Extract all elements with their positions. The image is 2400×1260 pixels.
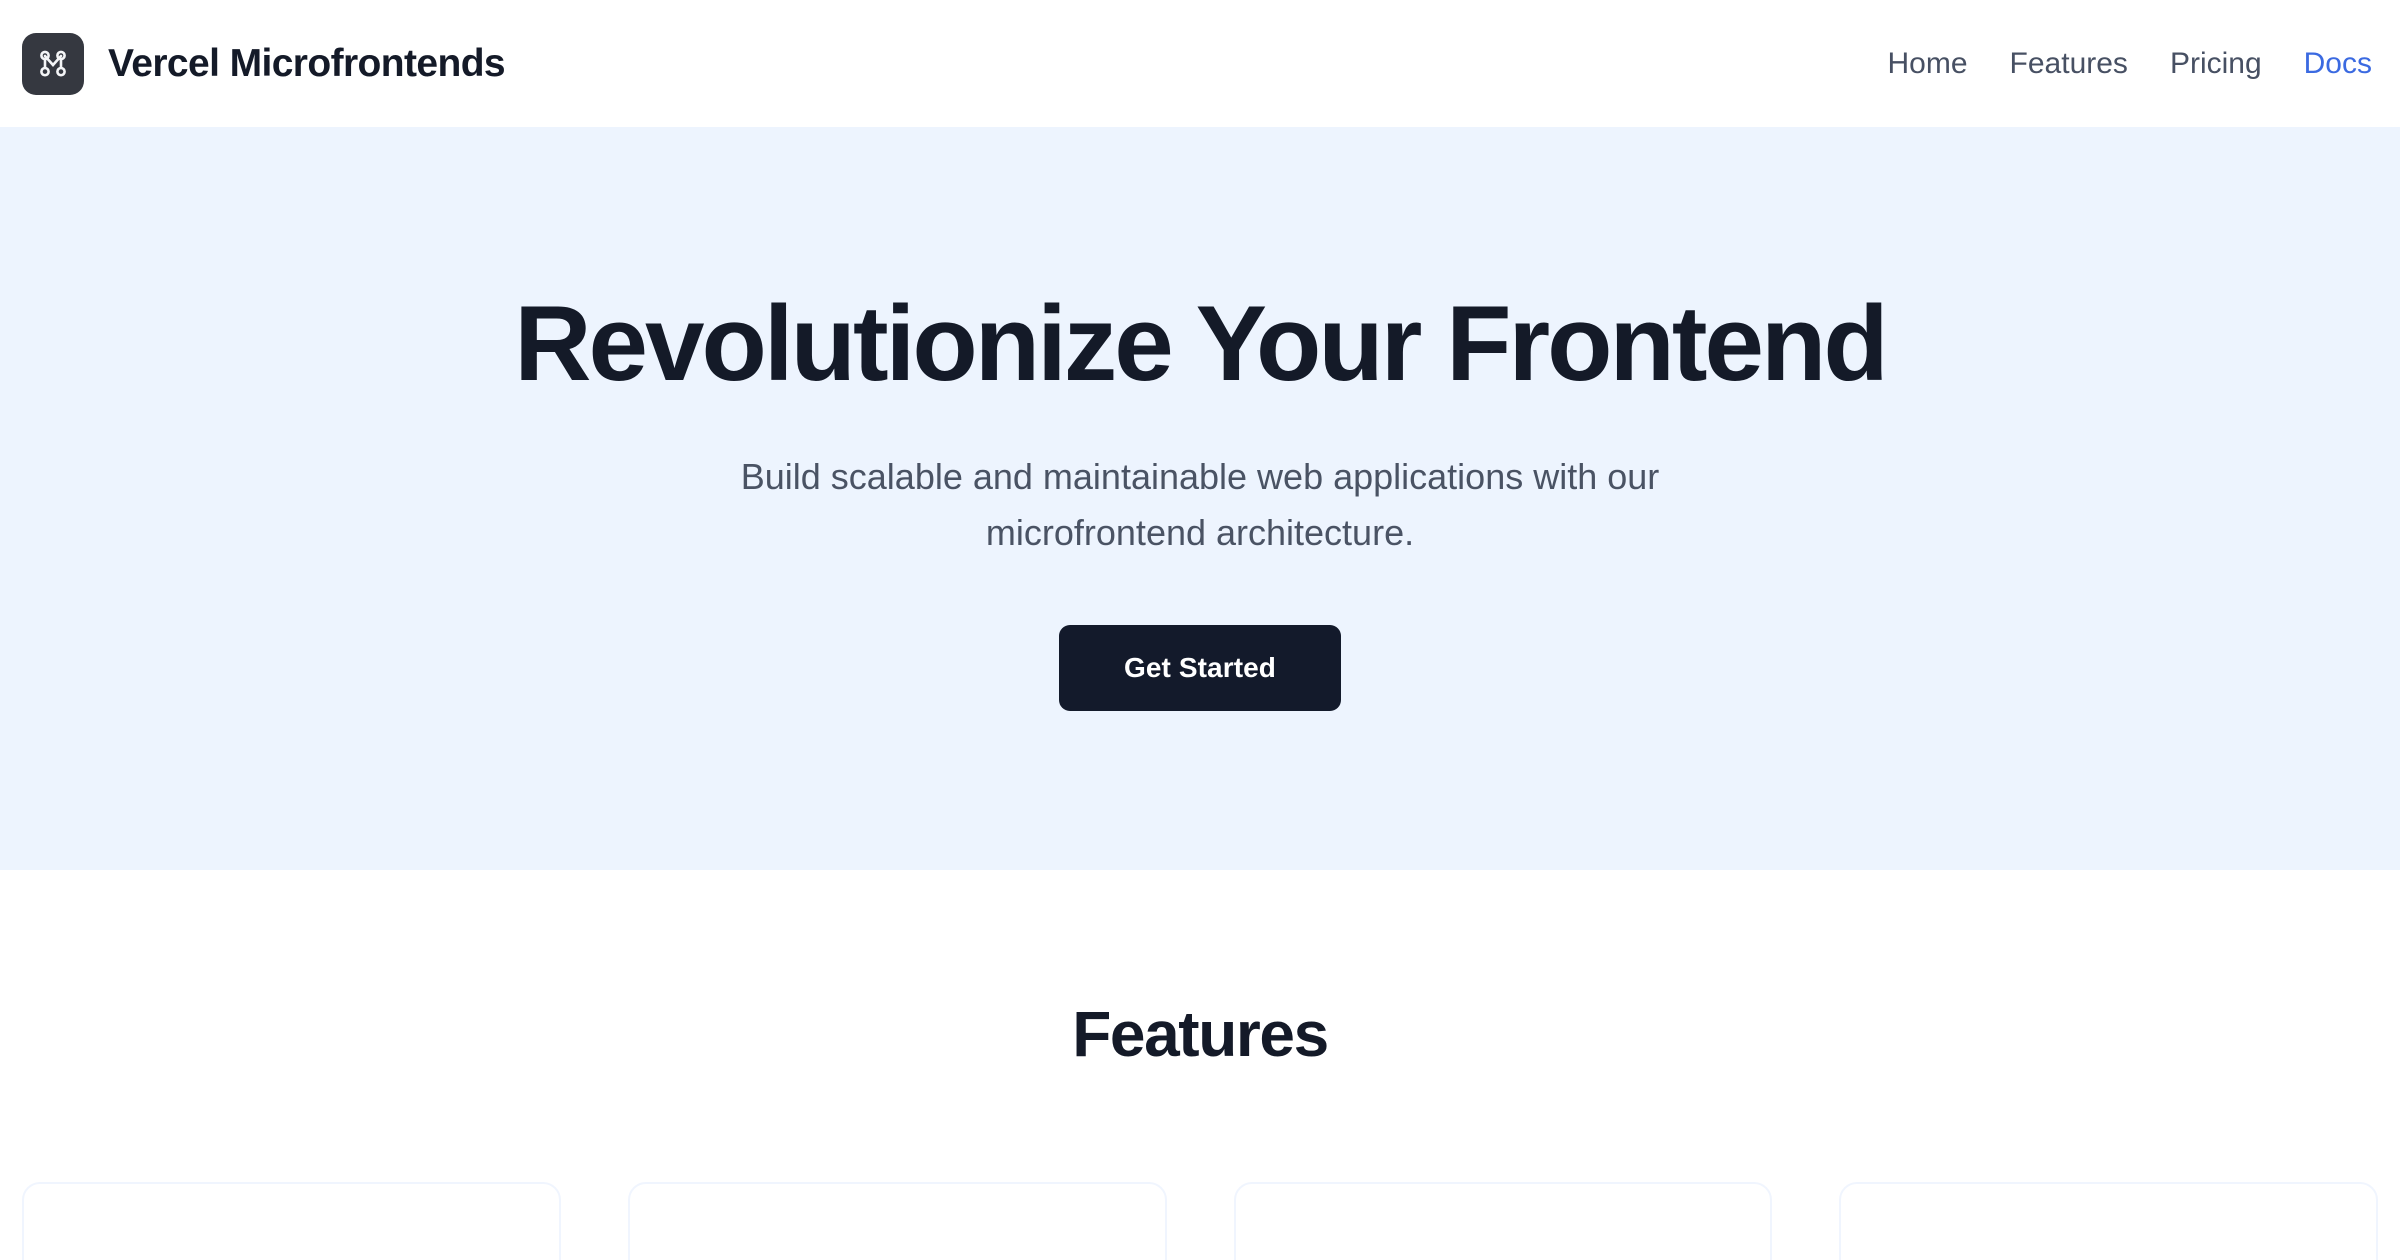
brand-home-link[interactable]: Vercel Microfrontends bbox=[22, 33, 505, 95]
nav-item-pricing[interactable]: Pricing bbox=[2170, 49, 2262, 79]
feature-card[interactable] bbox=[22, 1182, 561, 1260]
feature-card[interactable] bbox=[1839, 1182, 2378, 1260]
hero-section: Revolutionize Your Frontend Build scalab… bbox=[0, 127, 2400, 870]
hero-subtitle: Build scalable and maintainable web appl… bbox=[635, 449, 1765, 561]
network-graph-icon bbox=[22, 33, 84, 95]
feature-card-grid bbox=[0, 1182, 2400, 1260]
features-heading: Features bbox=[0, 1002, 2400, 1066]
site-header: Vercel Microfrontends Home Features Pric… bbox=[0, 0, 2400, 127]
main-navigation: Home Features Pricing Docs bbox=[1888, 49, 2372, 79]
nav-item-features[interactable]: Features bbox=[2010, 49, 2128, 79]
feature-card[interactable] bbox=[1234, 1182, 1773, 1260]
hero-title: Revolutionize Your Frontend bbox=[0, 287, 2400, 399]
features-section: Features bbox=[0, 870, 2400, 1260]
nav-item-docs[interactable]: Docs bbox=[2304, 49, 2372, 79]
nav-item-home[interactable]: Home bbox=[1888, 49, 1968, 79]
landing-page: Vercel Microfrontends Home Features Pric… bbox=[0, 0, 2400, 1260]
brand-name: Vercel Microfrontends bbox=[108, 44, 505, 83]
feature-card[interactable] bbox=[628, 1182, 1167, 1260]
hero-cta-wrapper: Get Started bbox=[0, 625, 2400, 711]
get-started-button[interactable]: Get Started bbox=[1059, 625, 1341, 711]
